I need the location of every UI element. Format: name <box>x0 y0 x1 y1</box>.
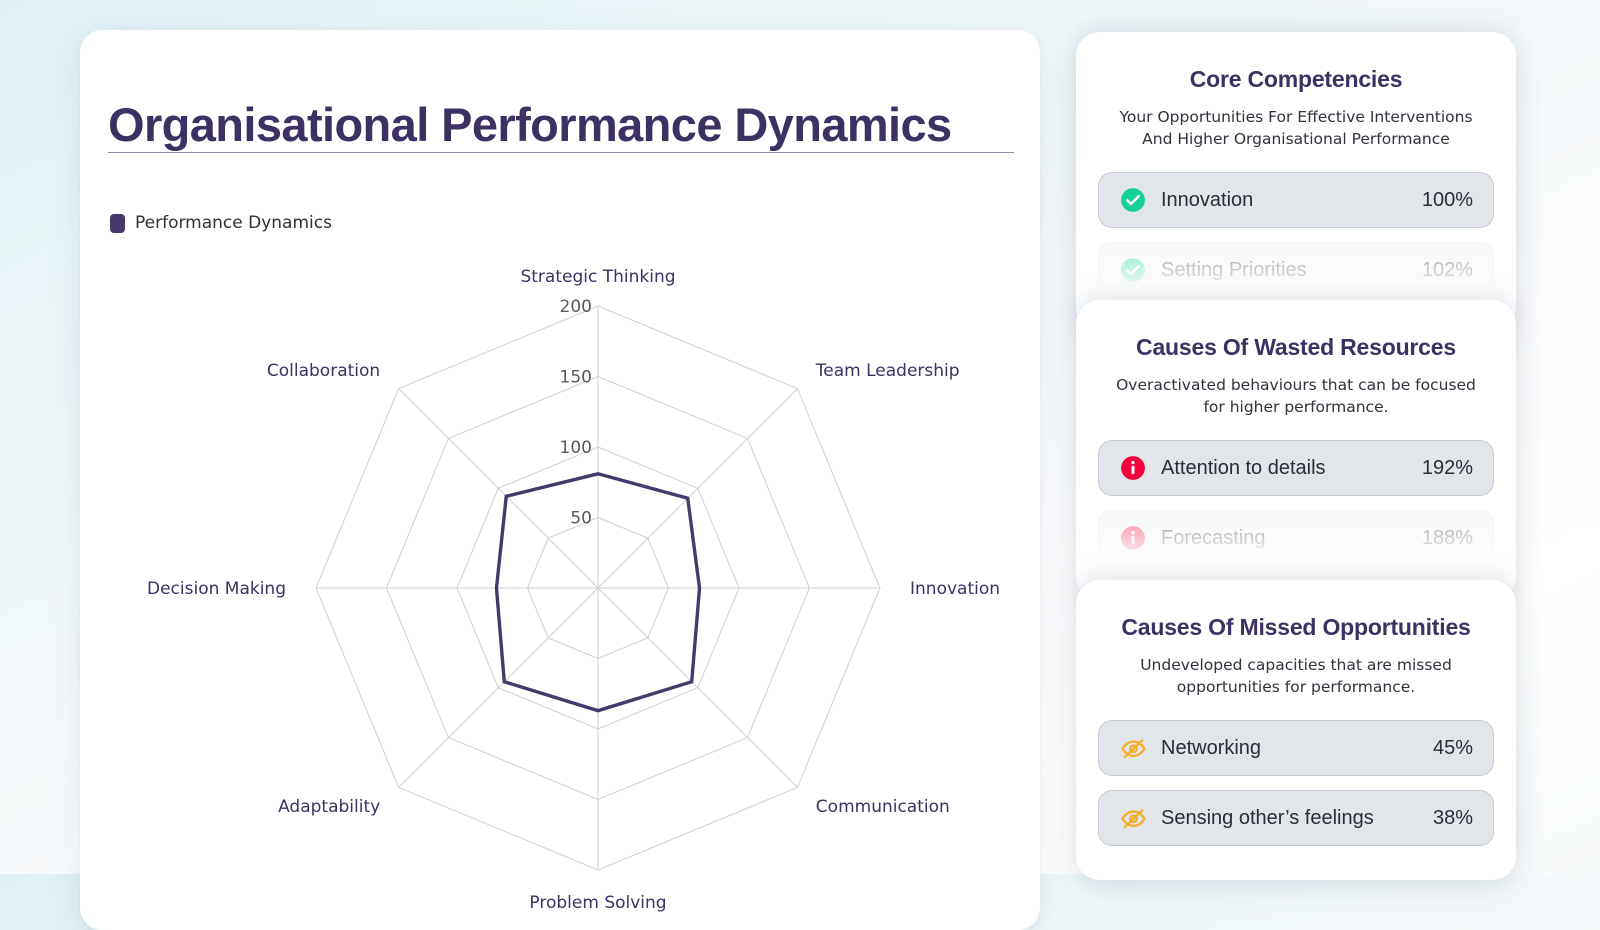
page-title: Organisational Performance Dynamics <box>108 99 1012 152</box>
radar-tick-labels: 50100150200 <box>560 297 592 529</box>
list-item-percent: 188% <box>1422 527 1473 550</box>
radar-axis-labels: Strategic ThinkingTeam LeadershipInnovat… <box>147 267 1000 913</box>
check-circle-icon <box>1119 186 1147 214</box>
panel-row-list: Attention to details 192% Forecasting 18… <box>1098 440 1494 566</box>
list-item[interactable]: Networking 45% <box>1098 720 1494 776</box>
list-item-label: Innovation <box>1161 189 1422 212</box>
list-item-label: Setting Priorities <box>1161 259 1422 282</box>
panel-row-list: Networking 45% Sensing other’s feelings … <box>1098 720 1494 846</box>
svg-text:Problem Solving: Problem Solving <box>529 893 666 913</box>
list-item[interactable]: Attention to details 192% <box>1098 440 1494 496</box>
svg-text:Communication: Communication <box>816 797 950 817</box>
panel-core-competencies: Core Competencies Your Opportunities For… <box>1076 32 1516 332</box>
list-item[interactable]: Setting Priorities 102% <box>1098 242 1494 298</box>
radar-axis-spokes <box>316 306 880 870</box>
panel-title: Causes Of Wasted Resources <box>1098 334 1494 361</box>
svg-text:Team Leadership: Team Leadership <box>815 361 960 381</box>
svg-text:Innovation: Innovation <box>910 579 1000 599</box>
list-item-percent: 102% <box>1422 259 1473 282</box>
check-circle-icon <box>1119 256 1147 284</box>
chart-card: Organisational Performance Dynamics Perf… <box>80 30 1040 930</box>
panel-subtitle: Overactivated behaviours that can be foc… <box>1098 374 1494 418</box>
eye-off-icon <box>1119 804 1147 832</box>
panel-row-list: Innovation 100% Setting Priorities 102% <box>1098 172 1494 298</box>
list-item[interactable]: Innovation 100% <box>1098 172 1494 228</box>
svg-text:Adaptability: Adaptability <box>278 797 380 817</box>
svg-text:50: 50 <box>570 509 592 529</box>
panel-subtitle: Undeveloped capacities that are missed o… <box>1098 654 1494 698</box>
svg-text:100: 100 <box>560 438 592 458</box>
list-item-label: Attention to details <box>1161 457 1422 480</box>
info-circle-icon <box>1119 454 1147 482</box>
title-divider <box>108 152 1014 153</box>
list-item[interactable]: Sensing other’s feelings 38% <box>1098 790 1494 846</box>
radar-chart-svg: 50100150200 Strategic ThinkingTeam Leade… <box>80 180 1040 930</box>
page-root: Organisational Performance Dynamics Perf… <box>0 0 1600 874</box>
list-item-percent: 100% <box>1422 189 1473 212</box>
panel-missed-opportunities: Causes Of Missed Opportunities Undevelop… <box>1076 580 1516 880</box>
svg-text:150: 150 <box>560 368 592 388</box>
radar-chart: 50100150200 Strategic ThinkingTeam Leade… <box>80 180 1040 930</box>
list-item-label: Sensing other’s feelings <box>1161 807 1433 830</box>
panel-title: Core Competencies <box>1098 66 1494 93</box>
svg-text:200: 200 <box>560 297 592 317</box>
panel-title: Causes Of Missed Opportunities <box>1098 614 1494 641</box>
info-circle-icon <box>1119 524 1147 552</box>
list-item-label: Forecasting <box>1161 527 1422 550</box>
eye-off-icon <box>1119 734 1147 762</box>
list-item-percent: 45% <box>1433 737 1473 760</box>
list-item-label: Networking <box>1161 737 1433 760</box>
list-item-percent: 192% <box>1422 457 1473 480</box>
svg-text:Decision Making: Decision Making <box>147 579 286 599</box>
svg-text:Collaboration: Collaboration <box>267 361 380 381</box>
panel-wasted-resources: Causes Of Wasted Resources Overactivated… <box>1076 300 1516 600</box>
list-item-percent: 38% <box>1433 807 1473 830</box>
panel-subtitle: Your Opportunities For Effective Interve… <box>1098 106 1494 150</box>
svg-text:Strategic Thinking: Strategic Thinking <box>520 267 675 287</box>
list-item[interactable]: Forecasting 188% <box>1098 510 1494 566</box>
